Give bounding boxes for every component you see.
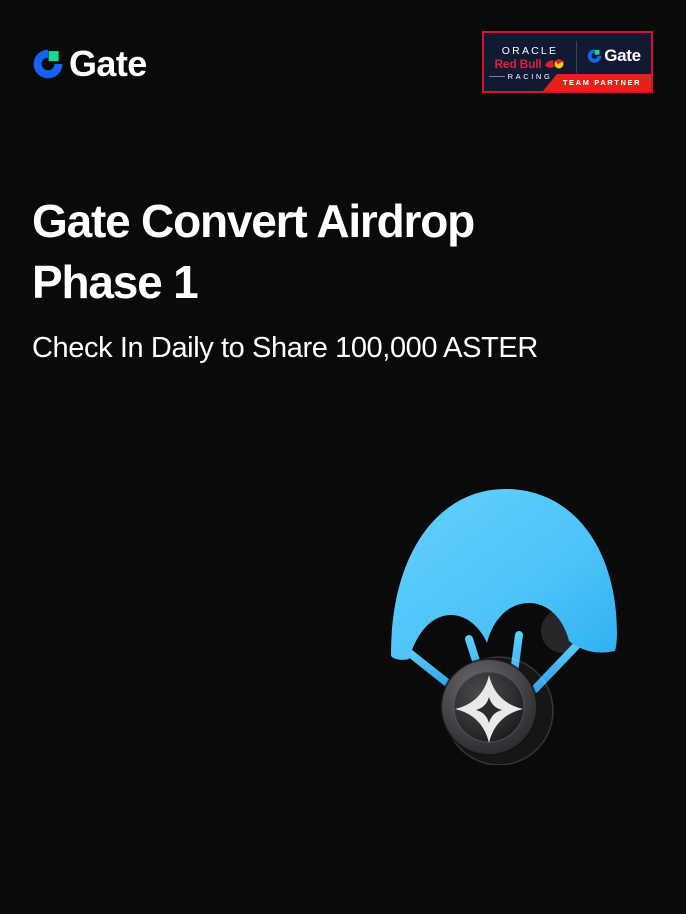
airdrop-promo-banner: Gate ORACLE Red Bull — [0, 0, 686, 914]
page-title: Gate Convert Airdrop Phase 1 — [32, 191, 572, 314]
oracle-red-bull-racing-team-partner-badge: ORACLE Red Bull RACING — [482, 31, 653, 93]
page-subtitle: Check In Daily to Share 100,000 ASTER — [32, 331, 632, 366]
team-partner-label: TEAM PARTNER — [553, 79, 641, 87]
gate-logo-icon — [32, 47, 64, 81]
badge-gate-logo: Gate — [587, 47, 641, 64]
parachute-airdrop-illustration — [383, 483, 625, 765]
team-partner-band: TEAM PARTNER — [543, 74, 651, 91]
gate-brand-logo[interactable]: Gate — [32, 44, 147, 84]
gate-wordmark: Gate — [69, 46, 147, 82]
racing-label: RACING — [508, 73, 553, 81]
red-bull-label: Red Bull — [494, 58, 541, 70]
racing-rule-left — [489, 76, 505, 77]
aster-coin-icon — [441, 659, 537, 755]
badge-gate-wordmark: Gate — [604, 47, 641, 64]
red-bull-icon — [544, 58, 566, 70]
gate-logo-icon — [587, 48, 602, 64]
parachute-canopy — [391, 489, 617, 660]
oracle-label: ORACLE — [502, 46, 558, 57]
